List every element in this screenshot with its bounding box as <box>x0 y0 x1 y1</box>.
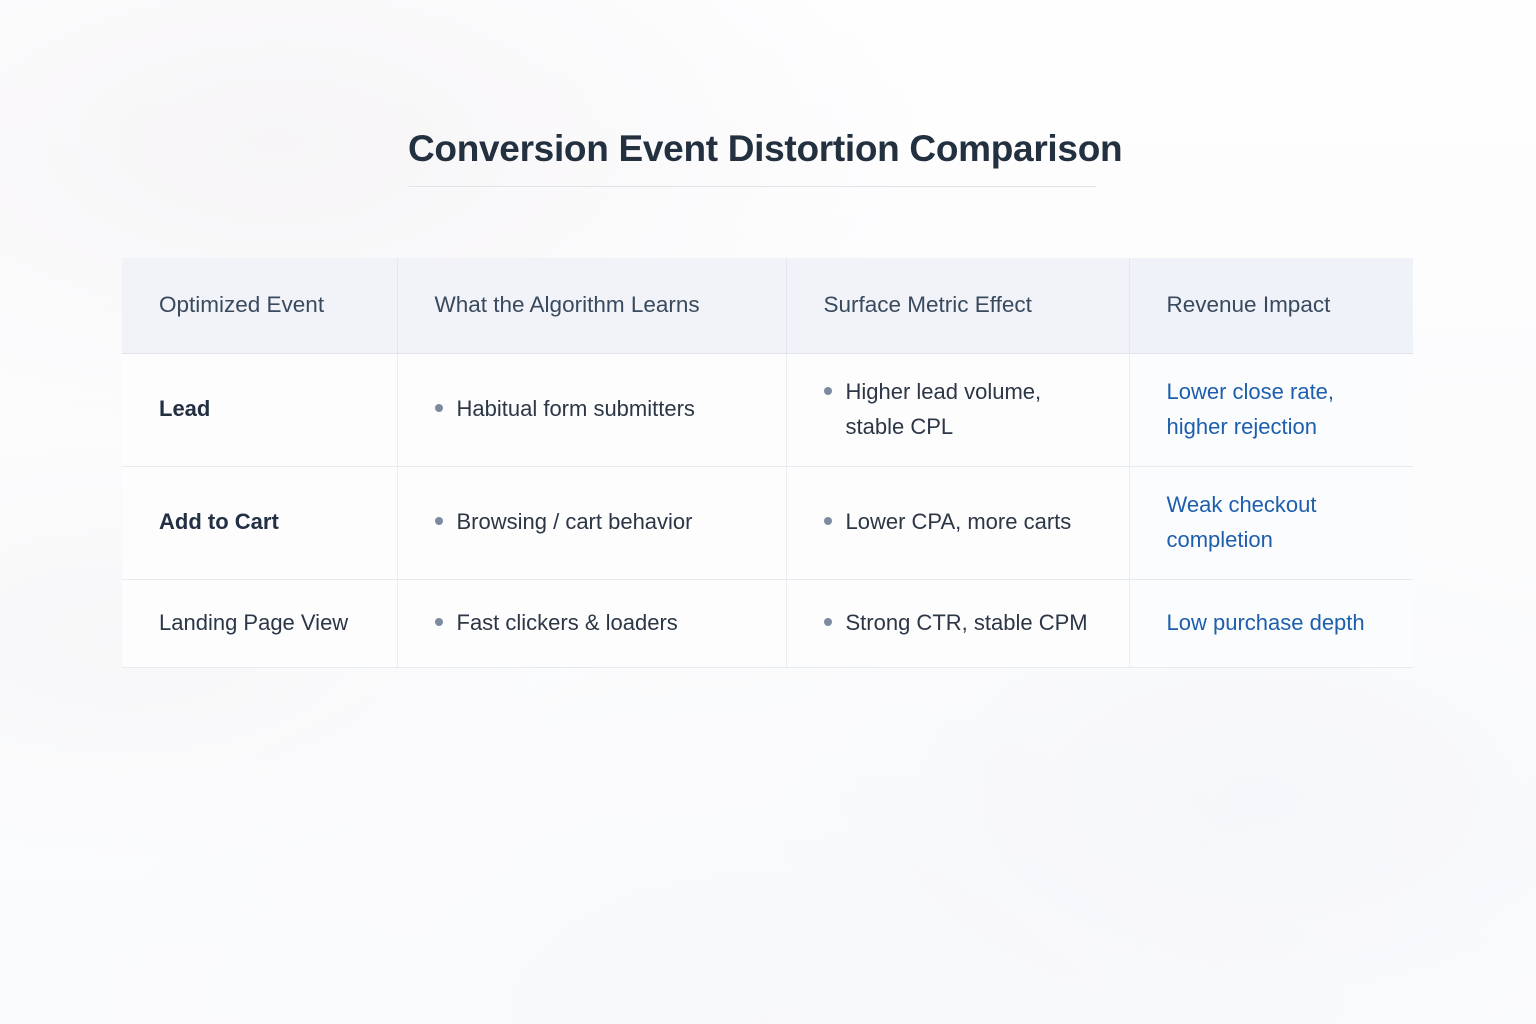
bullet-text: Fast clickers & loaders <box>457 606 678 640</box>
bullet-item: Fast clickers & loaders <box>435 606 762 640</box>
bullet-text: Strong CTR, stable CPM <box>846 606 1088 640</box>
bullet-item: Browsing / cart behavior <box>435 505 762 539</box>
bullet-text: Habitual form submitters <box>457 392 695 426</box>
cell-revenue-impact: Weak checkout completion <box>1129 466 1413 579</box>
conversion-comparison-table: Optimized Event What the Algorithm Learn… <box>122 258 1413 668</box>
table-row: Add to Cart Browsing / cart behavior Low… <box>122 466 1413 579</box>
event-name-label: Lead <box>159 395 373 424</box>
cell-algorithm-learns: Habitual form submitters <box>397 353 786 466</box>
cell-surface-metric: Lower CPA, more carts <box>786 466 1129 579</box>
title-divider <box>408 186 1096 187</box>
bullet-item: Lower CPA, more carts <box>824 505 1105 539</box>
cell-algorithm-learns: Fast clickers & loaders <box>397 579 786 667</box>
bullet-dot-icon <box>435 404 443 412</box>
bullet-item: Higher lead volume, stable CPL <box>824 375 1105 443</box>
event-name-label: Landing Page View <box>159 609 373 638</box>
cell-optimized-event: Lead <box>122 353 397 466</box>
column-header-algorithm-learns: What the Algorithm Learns <box>397 258 786 353</box>
title-block: Conversion Event Distortion Comparison <box>408 128 1096 187</box>
table-row: Landing Page View Fast clickers & loader… <box>122 579 1413 667</box>
cell-algorithm-learns: Browsing / cart behavior <box>397 466 786 579</box>
bullet-text: Higher lead volume, stable CPL <box>846 375 1105 443</box>
revenue-impact-text: Lower close rate, higher rejection <box>1167 375 1390 443</box>
bullet-text: Lower CPA, more carts <box>846 505 1072 539</box>
cell-surface-metric: Higher lead volume, stable CPL <box>786 353 1129 466</box>
table-header-row: Optimized Event What the Algorithm Learn… <box>122 258 1413 353</box>
bullet-item: Strong CTR, stable CPM <box>824 606 1105 640</box>
table-body: Lead Habitual form submitters Higher lea… <box>122 353 1413 667</box>
cell-surface-metric: Strong CTR, stable CPM <box>786 579 1129 667</box>
event-name-label: Add to Cart <box>159 508 373 537</box>
bullet-text: Browsing / cart behavior <box>457 505 693 539</box>
column-header-revenue-impact: Revenue Impact <box>1129 258 1413 353</box>
bullet-dot-icon <box>824 517 832 525</box>
bullet-item: Habitual form submitters <box>435 392 762 426</box>
table-header: Optimized Event What the Algorithm Learn… <box>122 258 1413 353</box>
column-header-optimized-event: Optimized Event <box>122 258 397 353</box>
cell-optimized-event: Add to Cart <box>122 466 397 579</box>
cell-revenue-impact: Lower close rate, higher rejection <box>1129 353 1413 466</box>
revenue-impact-text: Low purchase depth <box>1167 606 1390 640</box>
table-row: Lead Habitual form submitters Higher lea… <box>122 353 1413 466</box>
page-root: Conversion Event Distortion Comparison O… <box>0 0 1536 1024</box>
page-title: Conversion Event Distortion Comparison <box>408 128 1096 170</box>
cell-revenue-impact: Low purchase depth <box>1129 579 1413 667</box>
column-header-surface-metric: Surface Metric Effect <box>786 258 1129 353</box>
revenue-impact-text: Weak checkout completion <box>1167 488 1390 556</box>
bullet-dot-icon <box>435 618 443 626</box>
bullet-dot-icon <box>824 618 832 626</box>
cell-optimized-event: Landing Page View <box>122 579 397 667</box>
bullet-dot-icon <box>824 387 832 395</box>
bullet-dot-icon <box>435 517 443 525</box>
